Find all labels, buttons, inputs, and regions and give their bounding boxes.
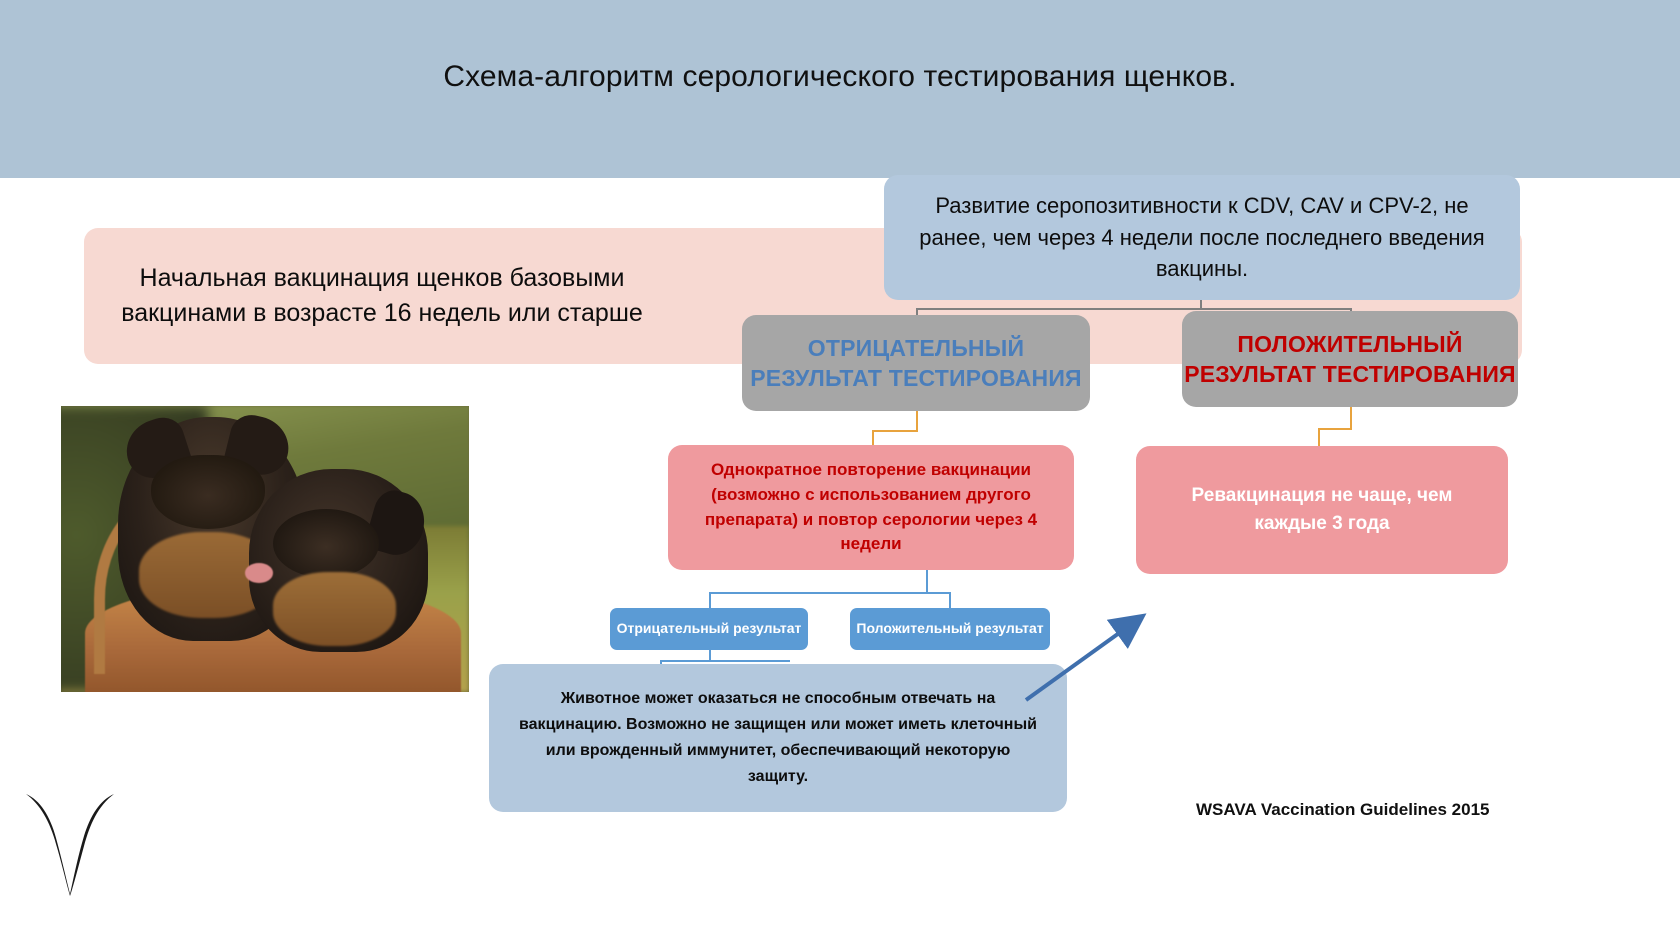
negative-result-box: ОТРИЦАТЕЛЬНЫЙ РЕЗУЛЬТАТ ТЕСТИРОВАНИЯ (742, 315, 1090, 411)
connector-retest-to-positive (949, 592, 951, 609)
negative-result-label: ОТРИЦАТЕЛЬНЫЙ РЕЗУЛЬТАТ ТЕСТИРОВАНИЯ (742, 333, 1090, 394)
connector-negative-elbow (872, 430, 918, 432)
connector-positive-elbow (1318, 428, 1352, 430)
revaccinate-every-3-years-box: Ревакцинация не чаще, чем каждые 3 года (1136, 446, 1508, 574)
seropositivity-note-box: Развитие серопозитивности к CDV, CAV и C… (884, 175, 1520, 300)
retest-negative-label: Отрицательный результат (617, 620, 802, 638)
explanation-label: Животное может оказаться не способным от… (489, 686, 1067, 790)
footer-credit: WSAVA Vaccination Guidelines 2015 (1196, 800, 1490, 820)
connector-positive-drop (1318, 428, 1320, 446)
retest-negative-button[interactable]: Отрицательный результат (610, 608, 808, 650)
connector-negative-stem (916, 411, 918, 431)
revaccinate-every-3-years-label: Ревакцинация не чаще, чем каждые 3 года (1136, 482, 1508, 537)
retest-positive-label: Положительный результат (856, 620, 1043, 638)
revaccinate-once-box: Однократное повторение вакцинации (возмо… (668, 445, 1074, 570)
seropositivity-note-label: Развитие серопозитивности к CDV, CAV и C… (884, 190, 1520, 286)
initial-vaccination-label: Начальная вакцинация щенков базовыми вак… (102, 261, 662, 332)
brand-logo-icon (22, 790, 118, 898)
connector-retest-horizontal (709, 592, 951, 594)
connector-explain-horizontal (660, 660, 790, 662)
arrow-to-revaccination-icon (1020, 608, 1160, 708)
connector-note-horizontal (916, 308, 1352, 310)
page-title: Схема-алгоритм серологического тестирова… (0, 60, 1680, 94)
revaccinate-once-label: Однократное повторение вакцинации (возмо… (668, 458, 1074, 558)
positive-result-label: ПОЛОЖИТЕЛЬНЫЙ РЕЗУЛЬТАТ ТЕСТИРОВАНИЯ (1182, 329, 1518, 390)
connector-negative-drop (872, 430, 874, 446)
puppies-photo (61, 406, 469, 692)
connector-positive-stem (1350, 407, 1352, 429)
connector-retest-to-negative (709, 592, 711, 609)
connector-retest-stem (926, 570, 928, 593)
explanation-box: Животное может оказаться не способным от… (489, 664, 1067, 812)
positive-result-box: ПОЛОЖИТЕЛЬНЫЙ РЕЗУЛЬТАТ ТЕСТИРОВАНИЯ (1182, 311, 1518, 407)
